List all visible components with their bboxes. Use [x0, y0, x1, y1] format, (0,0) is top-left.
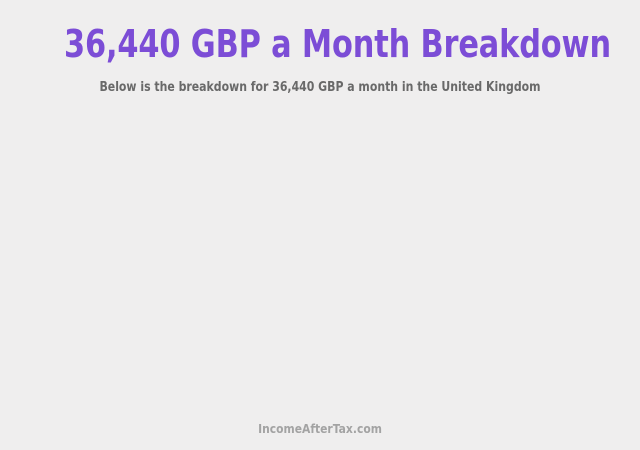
page-subtitle: Below is the breakdown for 36,440 GBP a … — [51, 66, 589, 96]
chart-canvas — [0, 96, 640, 421]
page-header: 36,440 GBP a Month Breakdown Below is th… — [0, 0, 640, 96]
chart-area — [0, 96, 640, 421]
income-breakdown-page: 36,440 GBP a Month Breakdown Below is th… — [0, 0, 640, 450]
page-title: 36,440 GBP a Month Breakdown — [64, 22, 576, 66]
footer-watermark: IncomeAfterTax.com — [45, 421, 595, 436]
page-footer: IncomeAfterTax.com — [0, 421, 640, 450]
